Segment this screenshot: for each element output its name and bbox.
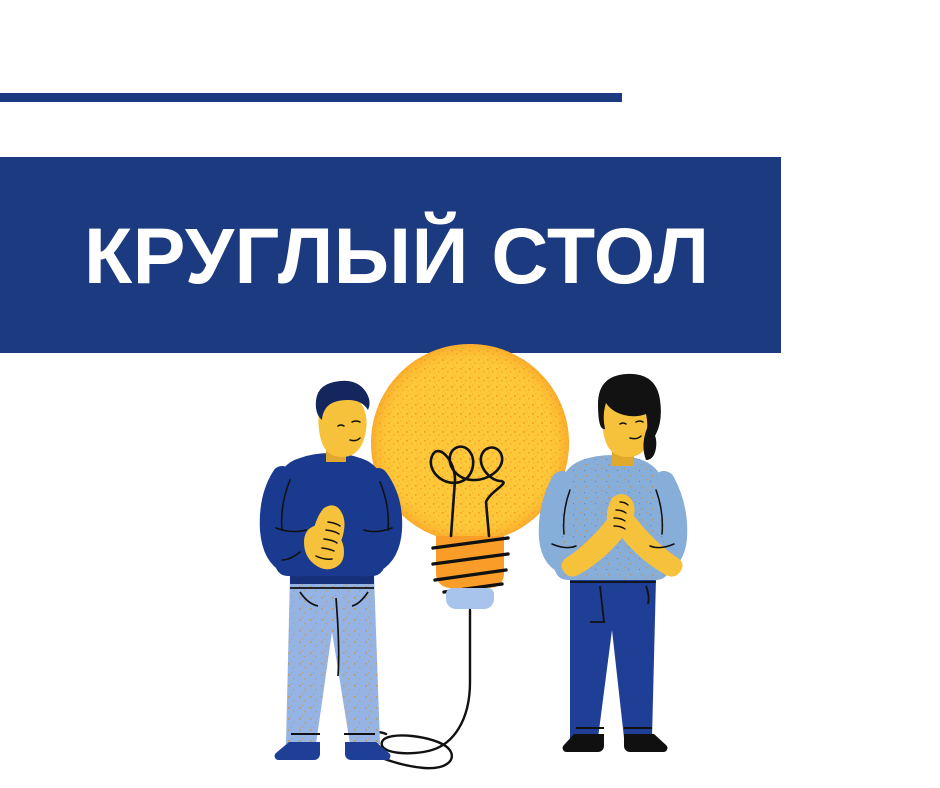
figure-woman-right [550, 374, 683, 752]
slide-canvas: КРУГЛЫЙ СТОЛ [0, 0, 940, 788]
page-title: КРУГЛЫЙ СТОЛ [84, 216, 710, 295]
illustration-two-people-with-lightbulb [0, 330, 940, 788]
decorative-rule [0, 93, 622, 102]
illustration-svg [0, 330, 940, 788]
title-banner: КРУГЛЫЙ СТОЛ [0, 157, 781, 353]
